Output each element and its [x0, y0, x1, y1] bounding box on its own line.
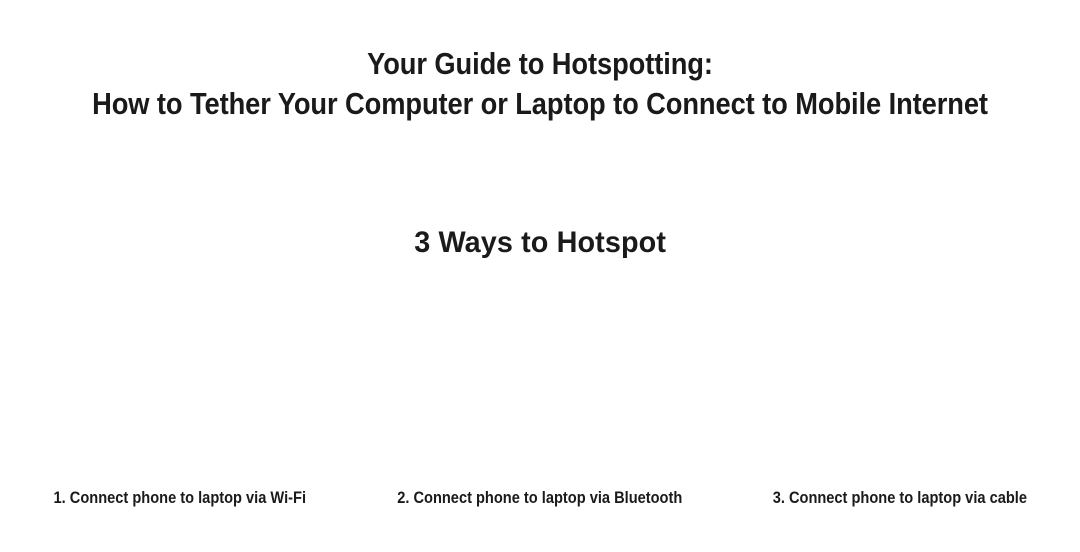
title-line-1: Your Guide to Hotspotting:: [65, 44, 1015, 84]
section-heading-label: 3 Ways to Hotspot: [414, 222, 666, 264]
caption-bluetooth-label: 2. Connect phone to laptop via Bluetooth: [397, 486, 682, 510]
title-line-2: How to Tether Your Computer or Laptop to…: [65, 84, 1015, 124]
page-title: Your Guide to Hotspotting: How to Tether…: [0, 44, 1080, 124]
caption-bluetooth: 2. Connect phone to laptop via Bluetooth: [360, 486, 720, 514]
infographic-page: Your Guide to Hotspotting: How to Tether…: [0, 0, 1080, 552]
caption-wifi-label: 1. Connect phone to laptop via Wi-Fi: [54, 486, 306, 510]
caption-cable: 3. Connect phone to laptop via cable: [720, 486, 1080, 514]
illustration-slot-wifi: [0, 286, 360, 476]
illustration-slot-bluetooth: [360, 286, 720, 476]
illustration-slot-cable: [720, 286, 1080, 476]
caption-wifi: 1. Connect phone to laptop via Wi-Fi: [0, 486, 360, 514]
caption-cable-label: 3. Connect phone to laptop via cable: [773, 486, 1027, 510]
section-heading: 3 Ways to Hotspot: [0, 222, 1080, 264]
illustration-area: [0, 286, 1080, 476]
captions-row: 1. Connect phone to laptop via Wi-Fi 2. …: [0, 486, 1080, 514]
